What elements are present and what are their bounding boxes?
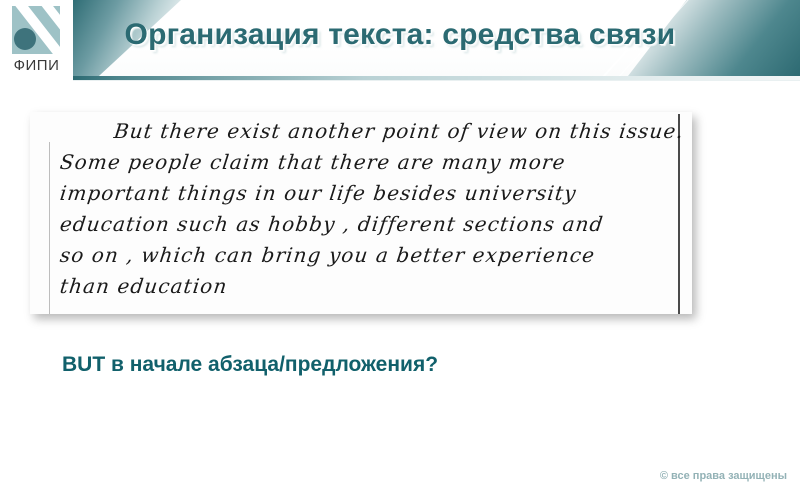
- scan-paper: But there exist another point of view on…: [30, 112, 692, 314]
- footer-copyright: © все права защищены: [660, 470, 787, 482]
- handwriting-line: Some people claim that there are many mo…: [58, 147, 674, 178]
- handwriting-line: important things in our life besides uni…: [58, 178, 674, 209]
- fipi-logo-label: ФИПИ: [0, 57, 73, 74]
- fipi-logo-icon: [12, 6, 60, 54]
- handwriting-line: so on , which can bring you a better exp…: [58, 240, 674, 271]
- slide-root: Организация текста: средства связи ФИПИ …: [0, 0, 800, 500]
- handwriting-line: But there exist another point of view on…: [58, 116, 674, 147]
- handwriting-line: education such as hobby , different sect…: [58, 209, 674, 240]
- scan-left-margin-line: [49, 142, 50, 314]
- slide-header: Организация текста: средства связи: [0, 0, 800, 82]
- scan-text-block: But there exist another point of view on…: [60, 116, 672, 312]
- handwriting-scan-image: But there exist another point of view on…: [30, 112, 692, 314]
- slide-title: Организация текста: средства связи: [0, 18, 800, 52]
- fipi-logo: ФИПИ: [0, 0, 73, 80]
- logo-circle-icon: [14, 28, 36, 50]
- slide-caption: BUT в начале абзаца/предложения?: [62, 353, 438, 377]
- handwriting-line: than education: [58, 271, 674, 302]
- header-divider-edge: [73, 80, 800, 81]
